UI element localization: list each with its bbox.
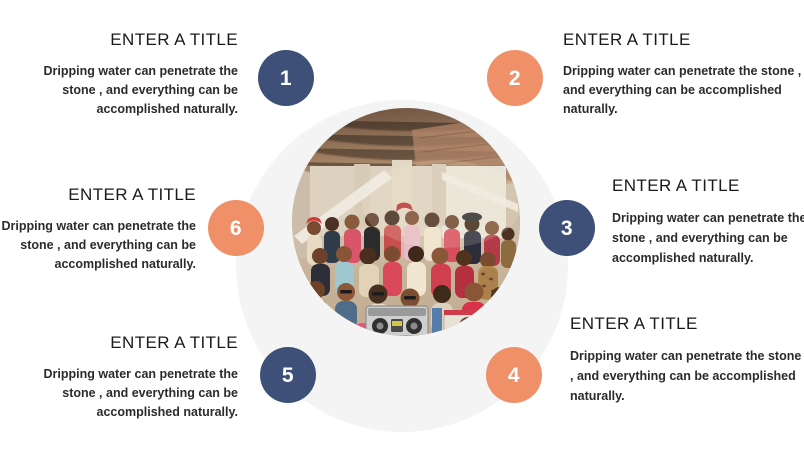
step-number-5: 5: [282, 365, 294, 386]
step-circle-3[interactable]: 3: [539, 200, 595, 256]
step-title-5: ENTER A TITLE: [10, 334, 238, 353]
step-circle-6[interactable]: 6: [208, 200, 264, 256]
step-number-6: 6: [230, 218, 242, 239]
step-title-6: ENTER A TITLE: [0, 186, 196, 205]
step-body-2: Dripping water can penetrate the stone ,…: [563, 62, 803, 120]
step-body-1: Dripping water can penetrate the stone ,…: [10, 62, 238, 120]
step-text-block-1: ENTER A TITLE Dripping water can penetra…: [10, 31, 238, 120]
step-title-3: ENTER A TITLE: [612, 177, 804, 196]
step-title-4: ENTER A TITLE: [570, 315, 804, 334]
step-text-block-5: ENTER A TITLE Dripping water can penetra…: [10, 334, 238, 423]
step-circle-2[interactable]: 2: [487, 50, 543, 106]
step-title-1: ENTER A TITLE: [10, 31, 238, 50]
step-text-block-2: ENTER A TITLE Dripping water can penetra…: [563, 31, 803, 120]
step-body-6: Dripping water can penetrate the stone ,…: [0, 217, 196, 275]
step-circle-1[interactable]: 1: [258, 50, 314, 106]
step-circle-4[interactable]: 4: [486, 347, 542, 403]
step-text-block-6: ENTER A TITLE Dripping water can penetra…: [0, 186, 196, 275]
step-number-3: 3: [561, 218, 573, 239]
step-number-4: 4: [508, 365, 520, 386]
step-text-block-4: ENTER A TITLE Dripping water can penetra…: [570, 315, 804, 406]
step-body-3: Dripping water can penetrate the stone ,…: [612, 208, 804, 269]
center-photo: [292, 108, 520, 336]
step-text-block-3: ENTER A TITLE Dripping water can penetra…: [612, 177, 804, 268]
step-circle-5[interactable]: 5: [260, 347, 316, 403]
step-title-2: ENTER A TITLE: [563, 31, 803, 50]
step-body-5: Dripping water can penetrate the stone ,…: [10, 365, 238, 423]
step-number-2: 2: [509, 68, 521, 89]
step-body-4: Dripping water can penetrate the stone ,…: [570, 346, 804, 407]
step-number-1: 1: [280, 68, 292, 89]
slide-canvas: 1 2 3 4 5 6 ENTER A TITLE Dripping water…: [0, 0, 804, 452]
